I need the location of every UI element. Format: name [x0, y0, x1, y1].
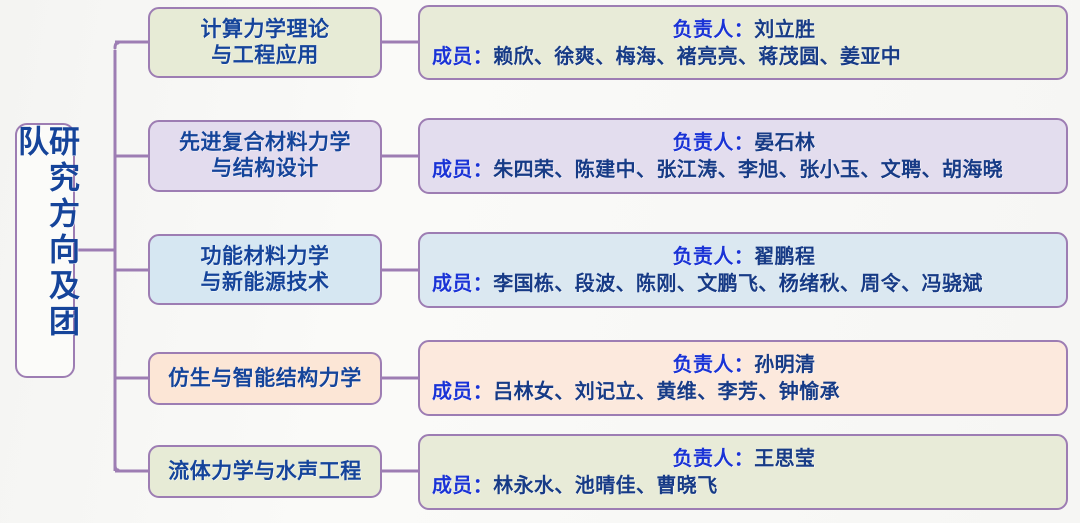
branch-box-4[interactable]: 仿生与智能结构力学 [148, 352, 382, 405]
members-names-4: 吕林女、刘记立、黄维、李芳、钟愉承 [493, 379, 840, 403]
branch-label-5: 流体力学与水声工程 [164, 459, 366, 485]
leader-line-4: 负责人：孙明清 [432, 351, 1056, 378]
detail-panel-4[interactable]: 负责人：孙明清 成员：吕林女、刘记立、黄维、李芳、钟愉承 [418, 340, 1068, 416]
leader-name-4: 孙明清 [754, 352, 815, 376]
members-line-1: 成员：赖欣、徐爽、梅海、褚亮亮、蒋茂圆、姜亚中 [432, 43, 1056, 70]
leader-name-2: 晏石林 [754, 130, 815, 154]
members-names-5: 林永水、池晴佳、曹晓飞 [493, 473, 717, 497]
leader-label-4: 负责人： [673, 352, 755, 376]
leader-name-1: 刘立胜 [754, 17, 815, 41]
members-label-4: 成员： [432, 379, 493, 403]
members-label-3: 成员： [432, 271, 493, 295]
branch-box-5[interactable]: 流体力学与水声工程 [148, 445, 382, 498]
leader-label-3: 负责人： [673, 244, 755, 268]
members-names-2: 朱四荣、陈建中、张江涛、李旭、张小玉、文聘、胡海晓 [493, 157, 1003, 181]
branch-box-1[interactable]: 计算力学理论 与工程应用 [148, 7, 382, 78]
leader-line-3: 负责人：翟鹏程 [432, 243, 1056, 270]
branch-label-2: 先进复合材料力学 与结构设计 [175, 130, 355, 181]
branch-label-4: 仿生与智能结构力学 [164, 366, 366, 392]
leader-label-2: 负责人： [673, 130, 755, 154]
members-names-1: 赖欣、徐爽、梅海、褚亮亮、蒋茂圆、姜亚中 [493, 44, 901, 68]
members-line-5: 成员：林永水、池晴佳、曹晓飞 [432, 472, 1056, 499]
branch-label-3: 功能材料力学 与新能源技术 [197, 244, 334, 295]
leader-label-5: 负责人： [673, 446, 755, 470]
leader-line-1: 负责人：刘立胜 [432, 16, 1056, 43]
branch-box-2[interactable]: 先进复合材料力学 与结构设计 [148, 120, 382, 192]
leader-line-2: 负责人：晏石林 [432, 129, 1056, 156]
detail-panel-3[interactable]: 负责人：翟鹏程 成员：李国栋、段波、陈刚、文鹏飞、杨绪秋、周令、冯骁斌 [418, 232, 1068, 308]
branch-box-3[interactable]: 功能材料力学 与新能源技术 [148, 234, 382, 305]
members-line-2: 成员：朱四荣、陈建中、张江涛、李旭、张小玉、文聘、胡海晓 [432, 156, 1056, 183]
leader-label-1: 负责人： [673, 17, 755, 41]
members-label-2: 成员： [432, 157, 493, 181]
members-label-1: 成员： [432, 44, 493, 68]
research-directions-team-diagram: 研究方向及团队 计算力学理论 与工程应用 负责人：刘立胜 成员：赖欣、徐爽、梅海… [0, 0, 1080, 523]
detail-panel-5[interactable]: 负责人：王思莹 成员：林永水、池晴佳、曹晓飞 [418, 434, 1068, 510]
root-node-label: 研究方向及团队 [14, 125, 76, 376]
leader-name-5: 王思莹 [754, 446, 815, 470]
branch-label-1: 计算力学理论 与工程应用 [197, 17, 334, 68]
detail-panel-2[interactable]: 负责人：晏石林 成员：朱四荣、陈建中、张江涛、李旭、张小玉、文聘、胡海晓 [418, 118, 1068, 194]
leader-name-3: 翟鹏程 [754, 244, 815, 268]
detail-panel-1[interactable]: 负责人：刘立胜 成员：赖欣、徐爽、梅海、褚亮亮、蒋茂圆、姜亚中 [418, 5, 1068, 80]
members-line-4: 成员：吕林女、刘记立、黄维、李芳、钟愉承 [432, 378, 1056, 405]
members-names-3: 李国栋、段波、陈刚、文鹏飞、杨绪秋、周令、冯骁斌 [493, 271, 983, 295]
members-line-3: 成员：李国栋、段波、陈刚、文鹏飞、杨绪秋、周令、冯骁斌 [432, 270, 1056, 297]
members-label-5: 成员： [432, 473, 493, 497]
root-node[interactable]: 研究方向及团队 [15, 123, 75, 378]
leader-line-5: 负责人：王思莹 [432, 445, 1056, 472]
